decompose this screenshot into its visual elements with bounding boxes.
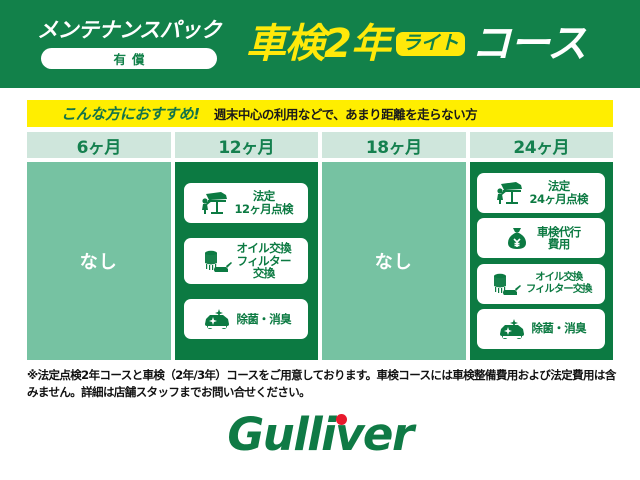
service-item: 除菌・消臭 bbox=[184, 299, 308, 339]
service-item-label: オイル交換 フィルター交換 bbox=[526, 272, 592, 295]
brand-block: メンテナンスパック 有償 bbox=[18, 20, 240, 69]
recommendation-subtitle: 週末中心の利用などで、あまり距離を走らない方 bbox=[214, 104, 477, 123]
table-column-3: 24ヶ月法定 24ヶ月点検車検代行 費用オイル交換 フィルター交換除菌・消臭 bbox=[470, 132, 614, 360]
course-title-block: 車検2年 ライト コース bbox=[246, 24, 586, 64]
table-column-0: 6ヶ月なし bbox=[27, 132, 171, 360]
column-header-label: 12ヶ月 bbox=[175, 132, 319, 158]
brand-title: メンテナンスパック bbox=[37, 20, 221, 41]
column-body: なし bbox=[27, 162, 171, 360]
recommendation-banner: こんな方におすすめ! 週末中心の利用などで、あまり距離を走らない方 bbox=[27, 100, 613, 127]
column-body: なし bbox=[322, 162, 466, 360]
service-item: オイル交換 フィルター 交換 bbox=[184, 238, 308, 285]
column-header-label: 24ヶ月 bbox=[470, 132, 614, 158]
header-band: メンテナンスパック 有償 車検2年 ライト コース bbox=[0, 0, 640, 88]
sanitize-car-icon bbox=[497, 315, 527, 343]
service-item: オイル交換 フィルター交換 bbox=[477, 264, 605, 304]
gulliver-logo-text: Gulliver bbox=[227, 412, 412, 457]
sanitize-car-icon bbox=[202, 305, 232, 333]
oil-filter-change-icon bbox=[202, 247, 232, 275]
course-tail-text: コース bbox=[471, 24, 586, 64]
service-item: 除菌・消臭 bbox=[477, 309, 605, 349]
recommendation-title: こんな方におすすめ! bbox=[61, 103, 200, 124]
column-body: 法定 12ヶ月点検オイル交換 フィルター 交換除菌・消臭 bbox=[175, 162, 319, 360]
brand-logo: Gulliver bbox=[0, 412, 640, 457]
service-item-label: 法定 24ヶ月点検 bbox=[530, 180, 588, 206]
course-main-text: 車検2年 bbox=[246, 24, 390, 64]
car-lift-inspection-icon bbox=[200, 189, 230, 217]
paid-badge: 有償 bbox=[41, 48, 217, 69]
money-bag-yen-icon bbox=[502, 224, 532, 252]
no-service-label: なし bbox=[27, 162, 171, 360]
column-body: 法定 24ヶ月点検車検代行 費用オイル交換 フィルター交換除菌・消臭 bbox=[470, 162, 614, 360]
table-column-1: 12ヶ月法定 12ヶ月点検オイル交換 フィルター 交換除菌・消臭 bbox=[175, 132, 319, 360]
column-header-label: 18ヶ月 bbox=[322, 132, 466, 158]
service-item-label: 除菌・消臭 bbox=[237, 313, 292, 326]
service-item-label: 除菌・消臭 bbox=[532, 322, 587, 335]
footnote-text: ※法定点検2年コースと車検（2年/3年）コースをご用意しております。車検コースに… bbox=[27, 367, 617, 400]
service-item-list: 法定 24ヶ月点検車検代行 費用オイル交換 フィルター交換除菌・消臭 bbox=[470, 162, 614, 360]
course-light-badge: ライト bbox=[396, 32, 465, 56]
maintenance-pack-infographic: メンテナンスパック 有償 車検2年 ライト コース こんな方におすすめ! 週末中… bbox=[0, 0, 640, 480]
service-item: 法定 24ヶ月点検 bbox=[477, 173, 605, 213]
service-item: 車検代行 費用 bbox=[477, 218, 605, 258]
service-item-list: 法定 12ヶ月点検オイル交換 フィルター 交換除菌・消臭 bbox=[175, 162, 319, 360]
table-column-2: 18ヶ月なし bbox=[322, 132, 466, 360]
service-item-label: オイル交換 フィルター 交換 bbox=[237, 242, 292, 281]
gulliver-logo-label: Gulliver bbox=[227, 408, 412, 461]
service-item-label: 法定 12ヶ月点検 bbox=[235, 190, 293, 216]
oil-filter-change-icon bbox=[491, 270, 521, 298]
no-service-label: なし bbox=[322, 162, 466, 360]
column-header-label: 6ヶ月 bbox=[27, 132, 171, 158]
car-lift-inspection-icon bbox=[495, 179, 525, 207]
service-item: 法定 12ヶ月点検 bbox=[184, 183, 308, 223]
maintenance-schedule-table: 6ヶ月なし12ヶ月法定 12ヶ月点検オイル交換 フィルター 交換除菌・消臭18ヶ… bbox=[27, 132, 613, 360]
service-item-label: 車検代行 費用 bbox=[537, 226, 581, 252]
